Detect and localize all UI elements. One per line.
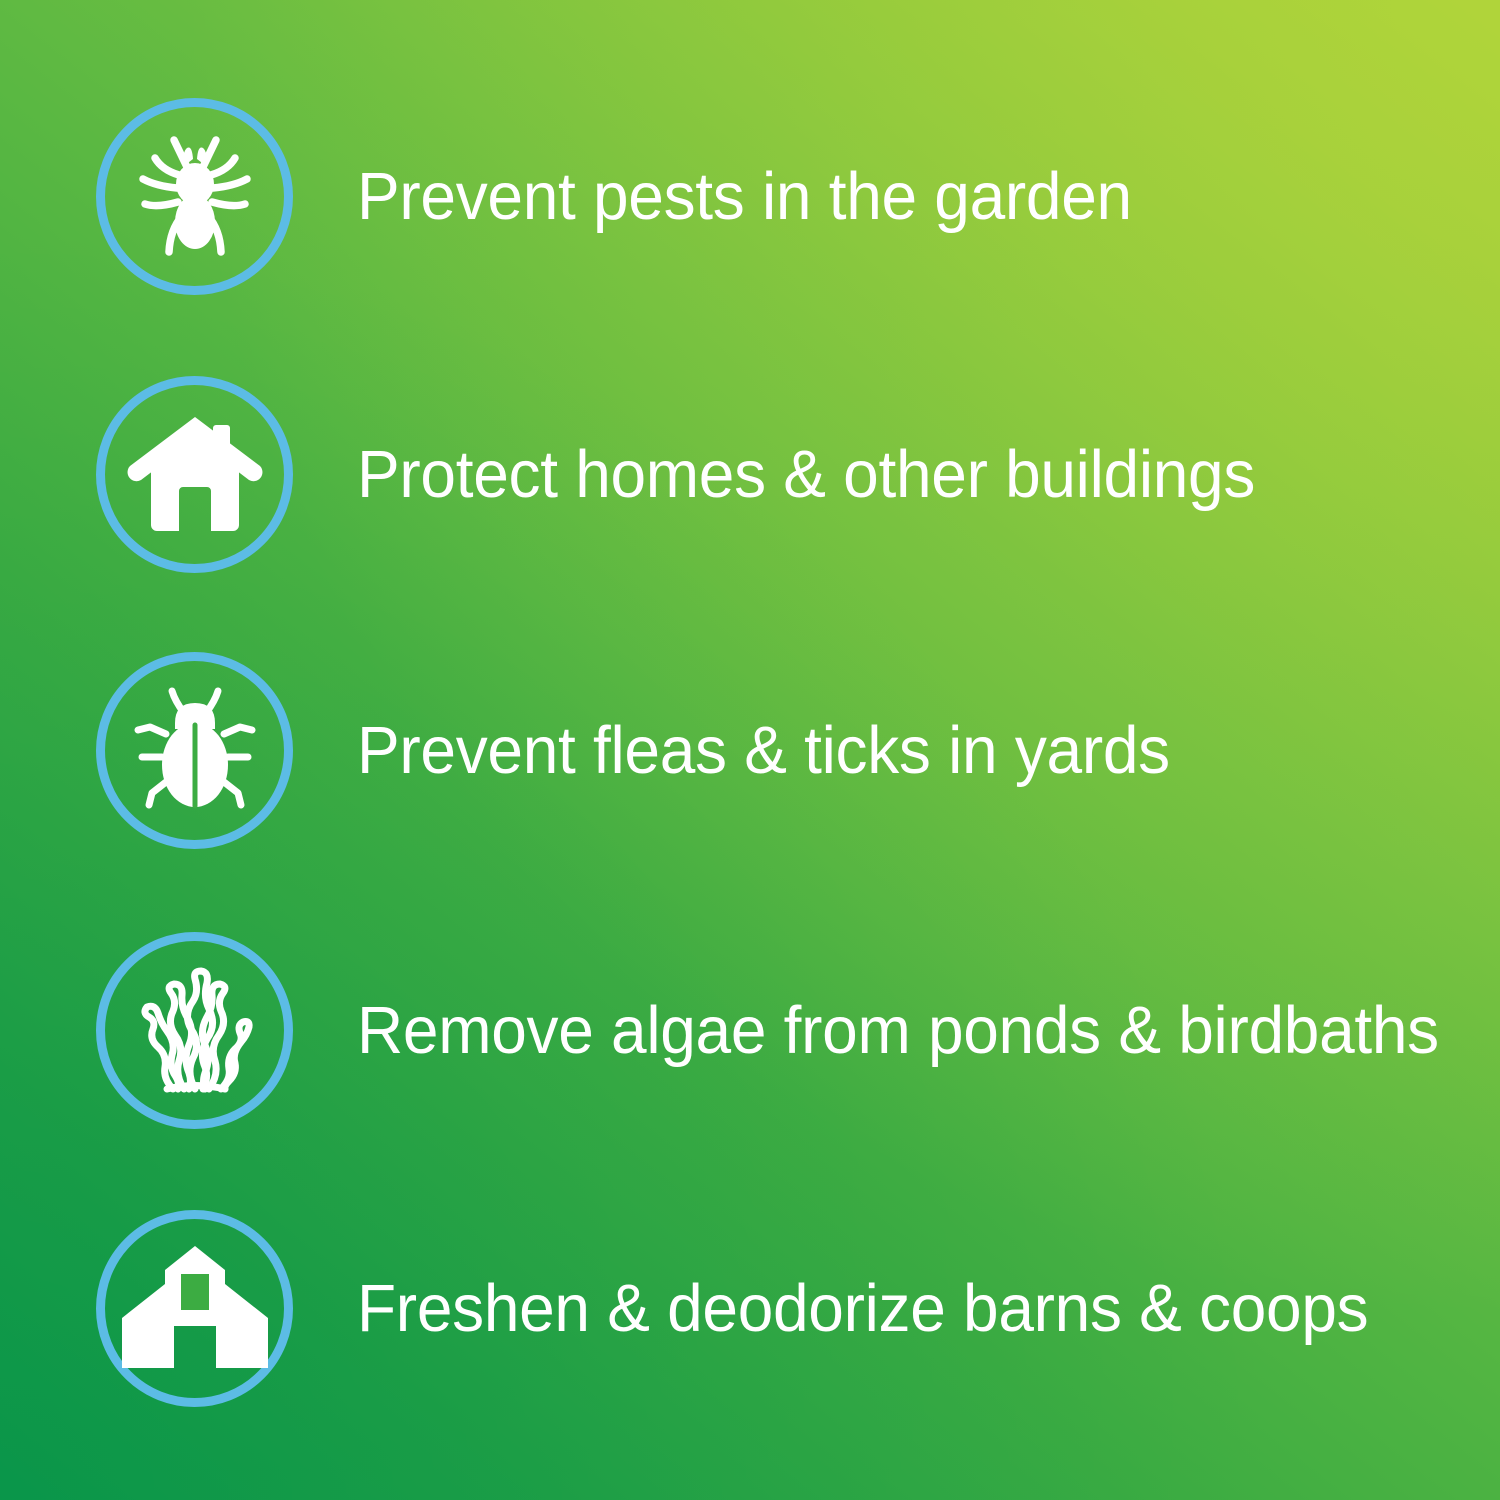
house-icon [127,413,263,535]
icon-badge-beetle [96,652,293,849]
feature-label: Prevent pests in the garden [357,163,1132,230]
icon-badge-algae [96,932,293,1129]
feature-label: Freshen & deodorize barns & coops [357,1275,1368,1342]
seaweed-algae-icon [129,963,261,1097]
feature-row: Freshen & deodorize barns & coops [96,1208,1416,1408]
feature-row: Prevent pests in the garden [96,96,1168,296]
spider-icon [130,126,260,266]
feature-label: Remove algae from ponds & birdbaths [357,997,1439,1064]
feature-label: Prevent fleas & ticks in yards [357,717,1170,784]
feature-label: Protect homes & other buildings [357,441,1255,508]
feature-board: Prevent pests in the garden Protect home… [0,0,1500,1500]
feature-row: Prevent fleas & ticks in yards [96,650,1208,850]
barn-icon [120,1244,270,1372]
icon-badge-house [96,376,293,573]
beetle-icon [128,685,262,815]
icon-badge-barn [96,1210,293,1407]
icon-badge-spider [96,98,293,295]
feature-row: Protect homes & other buildings [96,374,1297,574]
feature-row: Remove algae from ponds & birdbaths [96,930,1490,1130]
